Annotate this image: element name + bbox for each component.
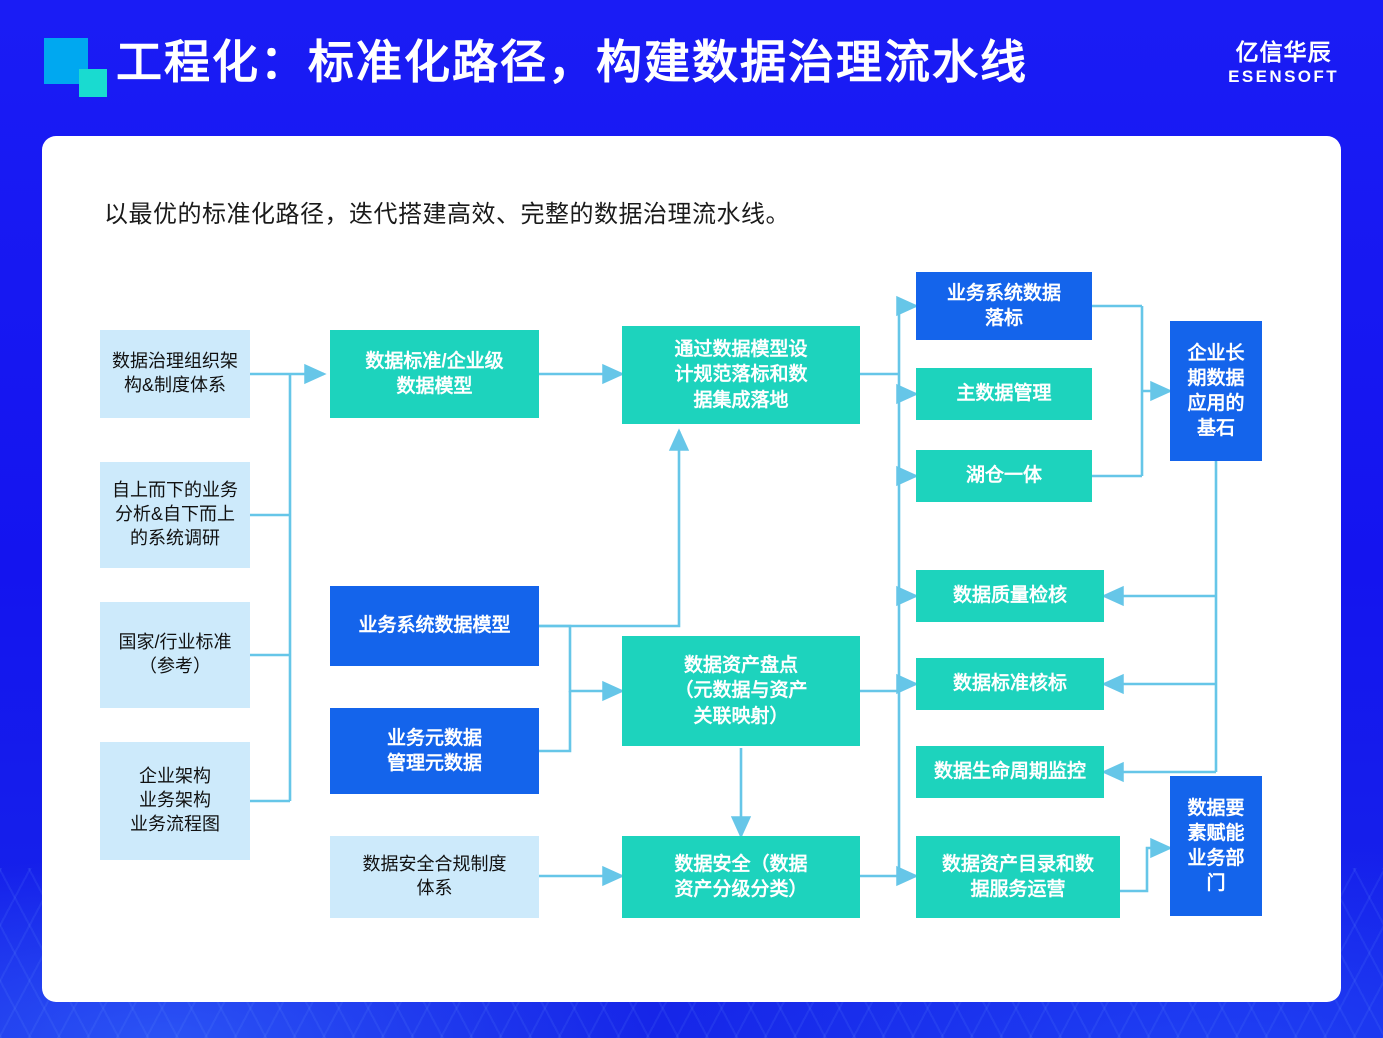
node-data-lifecycle-monitoring[interactable]: 数据生命周期监控	[916, 746, 1104, 798]
node-enterprise-architecture[interactable]: 企业架构 业务架构 业务流程图	[100, 742, 250, 860]
node-security-compliance-policy[interactable]: 数据安全合规制度 体系	[330, 836, 539, 918]
slide-header: 工程化：标准化路径，构建数据治理流水线 亿信华辰 ESENSOFT	[0, 0, 1383, 120]
node-data-quality-check[interactable]: 数据质量检核	[916, 570, 1104, 622]
node-enterprise-cornerstone[interactable]: 企业长 期数据 应用的 基石	[1170, 321, 1262, 461]
node-business-management-metadata[interactable]: 业务元数据 管理元数据	[330, 708, 539, 794]
node-data-asset-catalog-service[interactable]: 数据资产目录和数 据服务运营	[916, 836, 1120, 918]
node-data-governance-org[interactable]: 数据治理组织架 构&制度体系	[100, 330, 250, 418]
node-data-standard-enterprise-model[interactable]: 数据标准/企业级 数据模型	[330, 330, 539, 418]
slide-canvas: 工程化：标准化路径，构建数据治理流水线 亿信华辰 ESENSOFT 以最优的标准…	[0, 0, 1383, 1038]
node-data-asset-inventory[interactable]: 数据资产盘点 （元数据与资产 关联映射）	[622, 636, 860, 746]
page-title: 工程化：标准化路径，构建数据治理流水线	[116, 29, 1028, 95]
node-master-data-management[interactable]: 主数据管理	[916, 368, 1092, 420]
node-data-standard-verification[interactable]: 数据标准核标	[916, 658, 1104, 710]
content-card: 以最优的标准化路径，迭代搭建高效、完整的数据治理流水线。	[42, 136, 1341, 1002]
node-business-system-data-model[interactable]: 业务系统数据模型	[330, 586, 539, 666]
brand-name-cn: 亿信华辰	[1228, 38, 1339, 66]
pipeline-diagram: 数据治理组织架 构&制度体系 自上而下的业务 分析&自下而上 的系统调研 国家/…	[42, 136, 1341, 1002]
node-business-system-data-landing[interactable]: 业务系统数据 落标	[916, 272, 1092, 340]
node-data-security-classification[interactable]: 数据安全（数据 资产分级分类）	[622, 836, 860, 918]
brand-name-en: ESENSOFT	[1228, 66, 1339, 88]
node-national-industry-standard[interactable]: 国家/行业标准 （参考）	[100, 602, 250, 708]
node-topdown-analysis[interactable]: 自上而下的业务 分析&自下而上 的系统调研	[100, 462, 250, 568]
node-data-empower-business[interactable]: 数据要 素赋能 业务部 门	[1170, 776, 1262, 916]
node-lakehouse[interactable]: 湖仓一体	[916, 450, 1092, 502]
node-model-design-landing[interactable]: 通过数据模型设 计规范落标和数 据集成落地	[622, 326, 860, 424]
accent-square-small-icon	[79, 69, 107, 97]
brand-logo: 亿信华辰 ESENSOFT	[1228, 38, 1339, 88]
